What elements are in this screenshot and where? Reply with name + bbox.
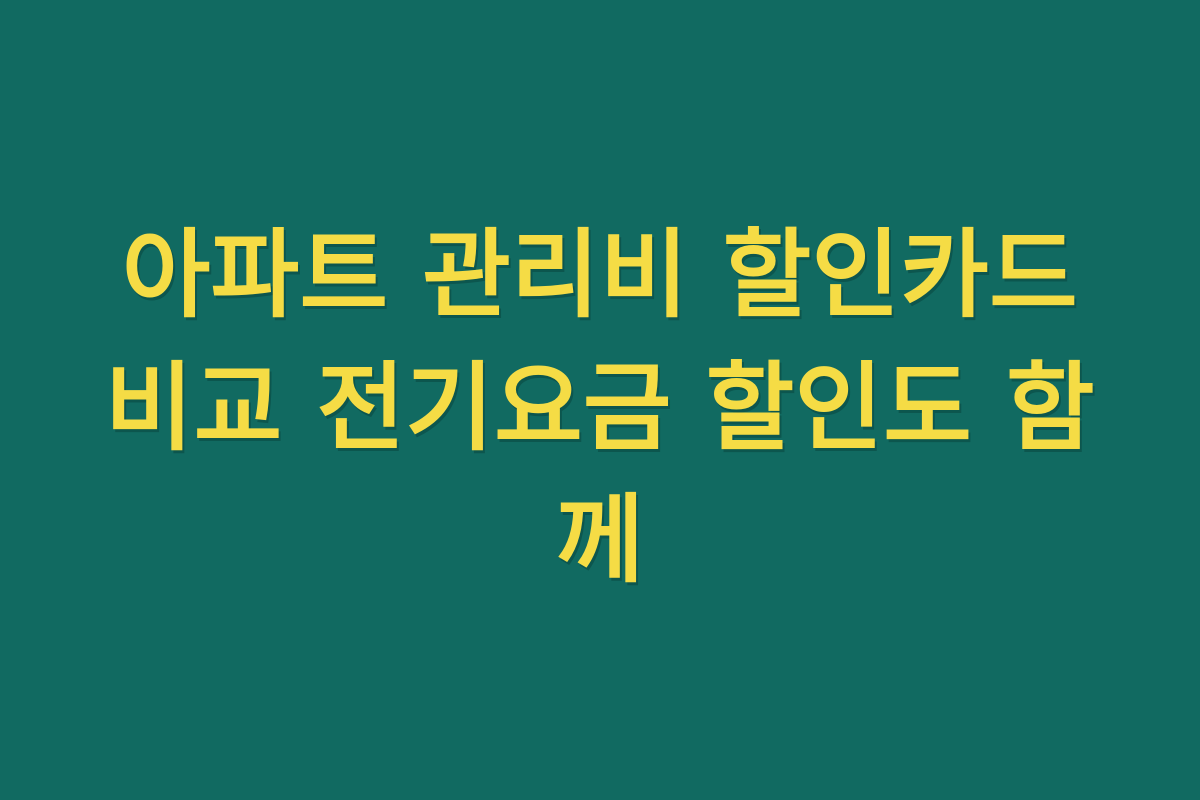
thumbnail-card: 아파트 관리비 할인카드 비교 전기요금 할인도 함 께 (0, 0, 1200, 800)
headline-block: 아파트 관리비 할인카드 비교 전기요금 할인도 함 께 (0, 209, 1200, 606)
page-title: 아파트 관리비 할인카드 비교 전기요금 할인도 함 께 (80, 209, 1120, 606)
headline-line-2: 비교 전기요금 할인도 함 (80, 342, 1120, 474)
headline-line-1: 아파트 관리비 할인카드 (80, 209, 1120, 341)
headline-line-3: 께 (80, 474, 1120, 606)
